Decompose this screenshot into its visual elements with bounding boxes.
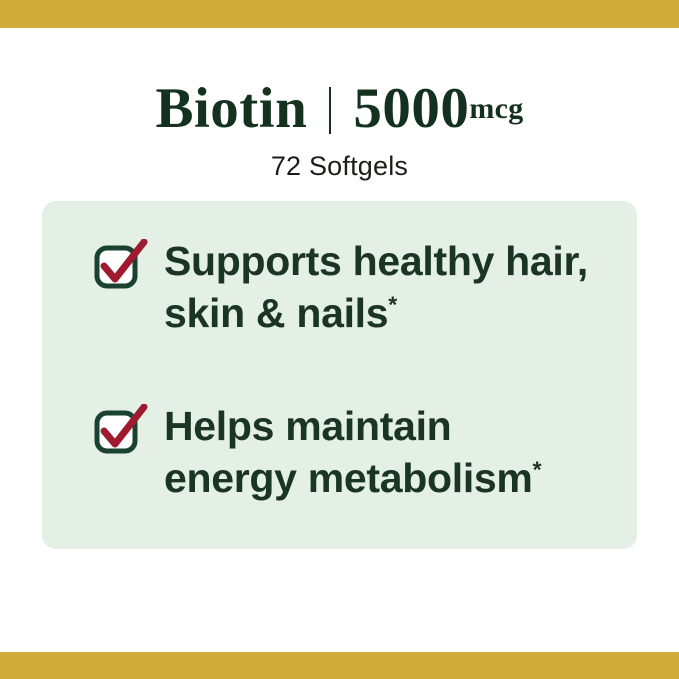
benefit-label: Helps maintain energy metabolism (164, 403, 533, 501)
check-square-icon (92, 239, 148, 291)
benefits-panel: Supports healthy hair, skin & nails* Hel… (42, 201, 637, 549)
bottom-gold-rule (0, 652, 679, 679)
footnote-marker: * (533, 457, 542, 483)
benefit-item: Supports healthy hair, skin & nails* (92, 235, 609, 340)
dose-unit: mcg (469, 94, 523, 124)
benefit-item: Helps maintain energy metabolism* (92, 400, 609, 505)
product-claims-card: Biotin 5000mcg 72 Softgels Supports heal… (0, 0, 679, 679)
softgel-count: 72 Softgels (0, 151, 679, 182)
headline-divider (329, 87, 331, 134)
top-gold-rule (0, 0, 679, 28)
card-body: Biotin 5000mcg 72 Softgels Supports heal… (0, 28, 679, 652)
dose-amount: 5000 (353, 80, 469, 137)
product-headline: Biotin 5000mcg (0, 80, 679, 137)
benefit-text: Supports healthy hair, skin & nails* (164, 235, 594, 340)
benefit-label: Supports healthy hair, skin & nails (164, 238, 588, 336)
benefit-text: Helps maintain energy metabolism* (164, 400, 594, 505)
check-square-icon (92, 404, 148, 456)
footnote-marker: * (388, 292, 397, 318)
product-name: Biotin (155, 80, 307, 137)
header-block: Biotin 5000mcg 72 Softgels (0, 80, 679, 182)
